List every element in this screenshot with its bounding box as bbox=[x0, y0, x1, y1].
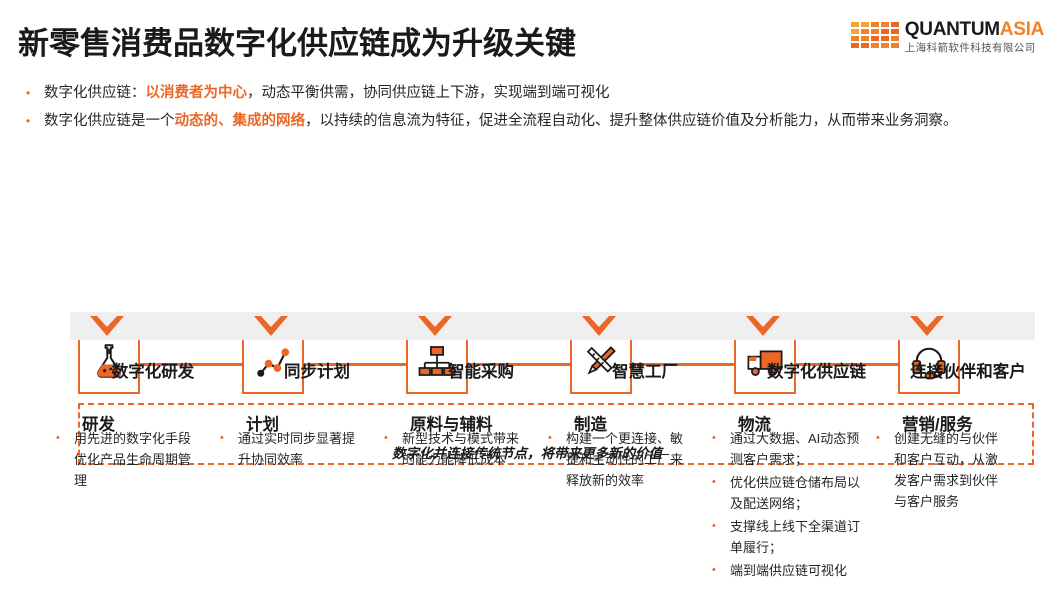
list-item-text: 通过实时同步显著提升协同效率 bbox=[238, 428, 360, 470]
intro-text-pre: 数字化供应链： bbox=[44, 85, 146, 101]
list-item-text: 用先进的数字化手段优化产品生命周期管理 bbox=[74, 428, 196, 491]
list-item: •创建无缝的与伙伴和客户互动，从激发客户需求到伙伴与客户服务 bbox=[876, 428, 1006, 512]
intro-text-pre: 数字化供应链是一个 bbox=[44, 113, 175, 129]
column-heading-5: 数字化供应链 bbox=[734, 362, 899, 383]
logo-word-dark: QUANTUM bbox=[905, 19, 1000, 40]
bullet-dot-icon: • bbox=[18, 82, 44, 104]
column-heading-3: 智能采购 bbox=[406, 362, 556, 383]
list-item-text: 创建无缝的与伙伴和客户互动，从激发客户需求到伙伴与客户服务 bbox=[894, 428, 1006, 512]
column-heading-4: 智慧工厂 bbox=[570, 362, 720, 383]
list-item: •端到端供应链可视化 bbox=[712, 560, 867, 581]
transition-grey-bar bbox=[70, 312, 1035, 340]
bullet-dot-icon: • bbox=[56, 428, 74, 449]
column-bullets-1: •用先进的数字化手段优化产品生命周期管理 bbox=[56, 428, 196, 493]
list-item-text: 优化供应链仓储布局以及配送网络； bbox=[730, 472, 867, 514]
logo-dot-grid-icon bbox=[851, 22, 899, 48]
list-item-text: 通过大数据、AI动态预测客户需求； bbox=[730, 428, 867, 470]
company-logo: QUANTUMASIA 上海科箭软件科技有限公司 bbox=[851, 20, 1044, 54]
list-item: •通过实时同步显著提升协同效率 bbox=[220, 428, 360, 470]
bullet-dot-icon: • bbox=[220, 428, 238, 449]
column-bullets-4: •构建一个更连接、敏捷和主动性的工厂来释放新的效率 bbox=[548, 428, 688, 493]
bullet-dot-icon: • bbox=[712, 428, 730, 449]
bullet-dot-icon: • bbox=[712, 516, 730, 537]
bullet-dot-icon: • bbox=[384, 428, 402, 449]
column-heading-6: 连接伙伴和客户 bbox=[898, 362, 1038, 383]
logo-subtitle: 上海科箭软件科技有限公司 bbox=[905, 43, 1044, 54]
list-item: •支撑线上线下全渠道订单履行； bbox=[712, 516, 867, 558]
process-strip: 数字化并连接传统节点，将带来更多新的价值 研发计划原料与辅料制造物流营销/服务 bbox=[0, 160, 1054, 310]
intro-text-highlight: 以消费者为中心 bbox=[146, 85, 248, 101]
bullet-dot-icon: • bbox=[876, 428, 894, 449]
list-item: •优化供应链仓储布局以及配送网络； bbox=[712, 472, 867, 514]
bullet-dot-icon: • bbox=[712, 472, 730, 493]
list-item: •用先进的数字化手段优化产品生命周期管理 bbox=[56, 428, 196, 491]
column-bullets-3: •新型技术与模式带来的能力能降低成本 bbox=[384, 428, 524, 472]
intro-bullet-1: •数字化供应链：以消费者为中心，动态平衡供需，协同供应链上下游，实现端到端可视化 bbox=[18, 82, 1028, 104]
column-heading-1: 数字化研发 bbox=[78, 362, 228, 383]
list-item-text: 新型技术与模式带来的能力能降低成本 bbox=[402, 428, 524, 470]
logo-word-accent: ASIA bbox=[1000, 19, 1044, 40]
column-bullets-6: •创建无缝的与伙伴和客户互动，从激发客户需求到伙伴与客户服务 bbox=[876, 428, 1006, 514]
intro-bullet-text: 数字化供应链：以消费者为中心，动态平衡供需，协同供应链上下游，实现端到端可视化 bbox=[44, 82, 610, 104]
bullet-dot-icon: • bbox=[712, 560, 730, 581]
list-item: •构建一个更连接、敏捷和主动性的工厂来释放新的效率 bbox=[548, 428, 688, 491]
column-bullets-5: •通过大数据、AI动态预测客户需求；•优化供应链仓储布局以及配送网络；•支撑线上… bbox=[712, 428, 867, 583]
bullet-dot-icon: • bbox=[18, 110, 44, 132]
list-item-text: 构建一个更连接、敏捷和主动性的工厂来释放新的效率 bbox=[566, 428, 688, 491]
list-item: •新型技术与模式带来的能力能降低成本 bbox=[384, 428, 524, 470]
intro-bullet-list: •数字化供应链：以消费者为中心，动态平衡供需，协同供应链上下游，实现端到端可视化… bbox=[18, 82, 1028, 138]
column-heading-2: 同步计划 bbox=[242, 362, 392, 383]
list-item-text: 端到端供应链可视化 bbox=[730, 560, 847, 581]
list-item-text: 支撑线上线下全渠道订单履行； bbox=[730, 516, 867, 558]
intro-text-post: ，动态平衡供需，协同供应链上下游，实现端到端可视化 bbox=[247, 85, 610, 101]
list-item: •通过大数据、AI动态预测客户需求； bbox=[712, 428, 867, 470]
intro-text-highlight: 动态的、集成的网络 bbox=[175, 113, 306, 129]
column-bullets-2: •通过实时同步显著提升协同效率 bbox=[220, 428, 360, 472]
intro-bullet-text: 数字化供应链是一个动态的、集成的网络，以持续的信息流为特征，促进全流程自动化、提… bbox=[44, 110, 958, 132]
intro-text-post: ，以持续的信息流为特征，促进全流程自动化、提升整体供应链价值及分析能力，从而带来… bbox=[305, 113, 958, 129]
page-title: 新零售消费品数字化供应链成为升级关键 bbox=[18, 18, 576, 63]
bullet-dot-icon: • bbox=[548, 428, 566, 449]
intro-bullet-2: •数字化供应链是一个动态的、集成的网络，以持续的信息流为特征，促进全流程自动化、… bbox=[18, 110, 1028, 132]
